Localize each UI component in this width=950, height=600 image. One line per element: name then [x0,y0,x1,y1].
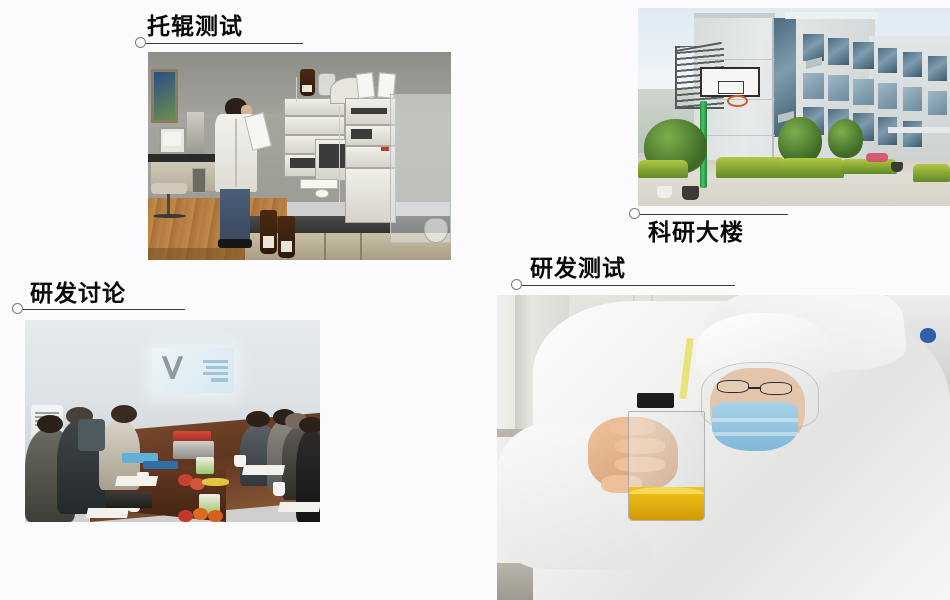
projector-screen [152,348,235,392]
table-paper-bottom [86,508,129,518]
lab-floor-bottle-2 [278,216,295,258]
lab-tubing-1 [339,106,340,206]
caption-research-building-marker [629,208,640,219]
building-hedge-far [913,164,950,182]
building-window-r1c3 [853,42,873,70]
meeting-chair-back [78,419,105,451]
lab-indicator-red [381,147,389,151]
projected-text-line-3 [203,372,228,375]
building-window-r2c1 [803,73,823,99]
photo-research-building-canvas [638,8,950,206]
caption-roller-test-label: 托辊测试 [147,14,243,40]
page-root: 托辊测试 [0,0,950,600]
building-parapet [694,13,775,18]
building-cornice [785,12,879,19]
lab-wall-picture [151,69,178,123]
building-hedge-mid [782,158,844,178]
lab-pc-tower [187,112,204,154]
table-tissue-box-1 [196,457,214,473]
table-laptop [105,492,152,508]
lab-left-desk-top [148,154,224,162]
photo-rd-testing-canvas [497,295,950,600]
projected-text-line-4 [211,378,228,381]
fruit-apple-3 [178,510,193,522]
beaker-background-instrument [637,393,673,408]
photo-roller-test [148,52,451,260]
lab-printout-1 [356,72,376,99]
lab-floor-bottle-1 [260,210,277,254]
lab-instrument-slot-b [351,108,387,114]
basketball-backboard-icon [700,67,759,97]
lab-tubing-2 [296,77,297,102]
building-window-r3c5 [903,121,922,147]
table-paper-left [115,476,158,486]
lab-reagent-bottle-top [300,69,315,96]
caption-roller-test-marker [135,37,146,48]
building-planter-dark [682,186,699,200]
building-window-r1c4 [878,48,897,74]
attendee-right-1-head [246,411,270,427]
surgical-mask-icon [712,402,798,451]
table-paper-right-2 [278,502,320,512]
building-hedge-center [716,157,785,179]
building-window-r2c2 [828,75,848,101]
caption-research-building-label: 科研大楼 [648,220,744,246]
fruit-orange-2 [208,510,223,522]
caption-rd-testing-label: 研发测试 [530,256,626,282]
caption-rd-discussion-rule [23,309,185,310]
projected-text-line-2 [206,366,227,369]
building-window-r2c3 [853,79,873,105]
projected-logo-icon [162,356,183,379]
building-window-r2c4 [878,83,897,109]
building-planter-white [657,186,673,198]
photo-research-building [638,8,950,206]
eyeglasses-right-lens-icon [760,382,793,395]
building-tree-right [828,119,862,159]
building-tree-center [778,117,822,165]
lab-cabinet-seam-2 [324,233,326,260]
fruit-banana [202,478,229,486]
table-paper-right-1 [242,465,285,475]
lab-under-desk-box [192,168,206,193]
table-red-folder [173,431,211,441]
lab-keyboard [300,179,338,189]
caption-rd-discussion-marker [12,303,23,314]
lab-office-chair [151,183,187,225]
lab-instrument-display-a [290,158,317,168]
lab-instrument-stack-b4 [345,168,397,222]
lab-instrument-display-b [351,129,372,139]
building-window-r2c5 [903,87,922,111]
photo-rd-discussion [25,320,320,522]
glass-beaker [628,411,705,521]
table-cup-4 [273,482,285,496]
building-entrance-canopy [888,127,950,133]
projected-text-line-1 [203,360,228,363]
caption-rd-testing-rule [522,285,735,286]
eyeglasses-bridge [748,387,761,389]
building-flowerbed [866,153,888,163]
beaker-yellow-liquid [629,487,704,519]
photo-roller-test-canvas [148,52,451,260]
lab-instrument-stack-a2 [284,116,345,135]
building-window-r1c6 [928,56,947,82]
lab-cabinet-seam-3 [360,233,362,260]
table-notebook-blue [143,461,178,469]
attendee-left-3-head [111,405,138,423]
photo-rd-testing [497,295,950,600]
lab-mouse [315,189,329,197]
attendee-right-4-head [299,417,320,433]
caption-rd-discussion-label: 研发讨论 [30,281,126,307]
building-window-r1c2 [828,38,848,66]
caption-roller-test-rule [146,43,303,44]
building-window-r1c5 [903,52,922,78]
eyeglasses-left-lens-icon [717,380,750,393]
caption-research-building-rule [640,214,788,215]
building-hedge-left [638,160,688,178]
lab-crt-monitor [159,127,186,154]
photo-rd-discussion-canvas [25,320,320,522]
building-window-r2c6 [928,91,947,115]
caption-rd-testing-marker [511,279,522,290]
fruit-orange-1 [193,508,208,520]
